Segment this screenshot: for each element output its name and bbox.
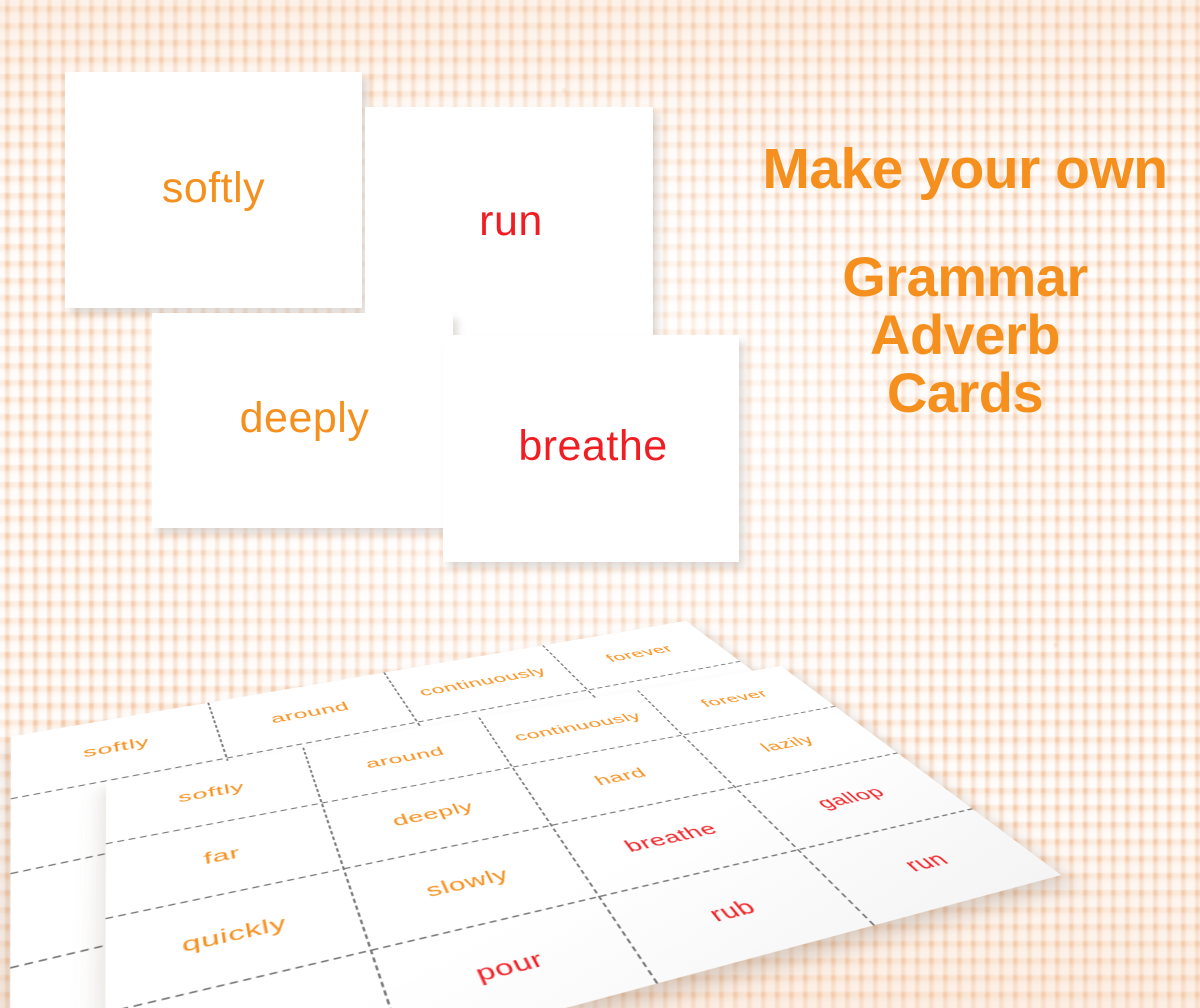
sheet-word-front-breathe: breathe [619,819,722,856]
flashcard-run[interactable]: run [365,107,653,340]
title-line-make-your-own: Make your own [742,138,1188,200]
title-line-cards: Cards [742,364,1188,422]
sheet-word-front-run: run [898,848,956,876]
flashcard-deeply[interactable]: deeply [152,313,453,528]
sheet-word-back-continuously: continuously [415,664,550,699]
sheet-word-back-forever: forever [601,642,677,664]
cut-line-vertical [478,717,658,983]
flashcard-softly[interactable]: softly [65,72,362,308]
sheet-word-front-march: march [196,1004,306,1008]
sheet-word-front-deeply: deeply [389,798,477,830]
flashcard-label: deeply [240,394,370,443]
title-line-grammar: Grammar [742,248,1188,306]
sheet-word-front-far: far [202,843,241,869]
flashcard-breathe[interactable]: breathe [443,335,739,562]
flashcard-label: run [479,197,543,246]
flashcard-label: breathe [518,422,667,471]
poster-canvas: softlyaroundcontinuouslyforeverfarquic s… [0,0,1200,1008]
sheet-word-front-lazily: lazily [756,732,820,755]
sheet-word-front-hard: hard [590,765,650,789]
sheet-word-front-forever: forever [696,687,772,709]
sheet-word-front-gallop: gallop [811,783,891,812]
sheet-word-front-around: around [363,744,447,771]
sheet-word-front-pour: pour [471,946,549,987]
sheet-word-front-rub: rub [703,895,762,927]
title-line-adverb: Adverb [742,306,1188,364]
sheet-word-front-slowly: slowly [422,863,513,901]
cut-line-vertical [302,748,406,1008]
sheet-word-front-continuously: continuously [510,709,645,744]
sheet-word-front-softly: softly [177,779,245,806]
poster-title: Make your own Grammar Adverb Cards [742,138,1188,422]
flashcard-label: softly [162,164,265,213]
cut-line-horizontal [106,752,898,919]
sheet-word-front-quickly: quickly [181,911,289,957]
sheet-word-back-softly: softly [82,734,150,761]
sheet-word-back-around: around [268,699,352,726]
title-product-name: Grammar Adverb Cards [742,248,1188,422]
